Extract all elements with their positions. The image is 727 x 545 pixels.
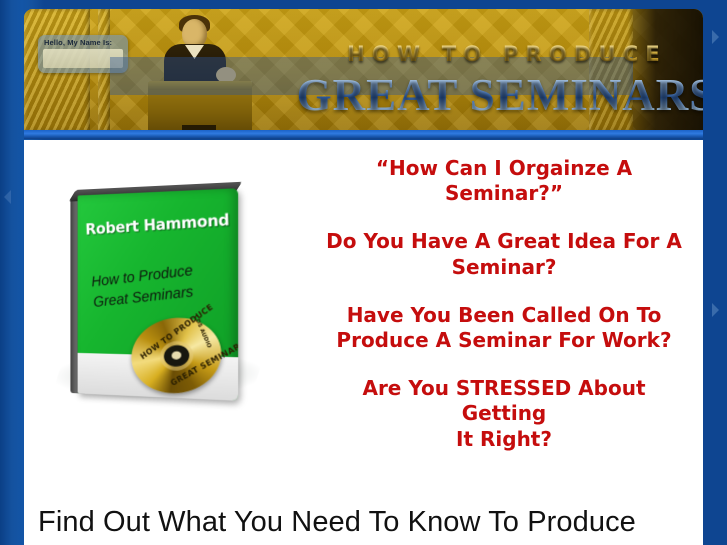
page-frame: Hello, My Name Is: HOW TO PRODUCE GREAT … (0, 0, 727, 545)
cd-hub (162, 343, 191, 369)
product-binder: Robert Hammond How to Produce Great Semi… (78, 188, 239, 401)
name-badge-label: Hello, My Name Is: (38, 35, 128, 49)
cd-label-side: CDS AUDIO (192, 314, 212, 349)
headline-question-1: “How Can I Orgainze A Seminar?” (324, 156, 684, 206)
banner-title-top: HOW TO PRODUCE (302, 42, 703, 66)
headline-stack: “How Can I Orgainze A Seminar?” Do You H… (324, 156, 684, 452)
binder-title: How to Produce Great Seminars (90, 256, 229, 314)
cd-label-top: HOW TO PRODUCE (139, 302, 215, 361)
binder-cover: Robert Hammond How to Produce Great Semi… (78, 188, 239, 401)
binder-author-name: Robert Hammond (78, 210, 239, 239)
headline-question-4: Are You STRESSED About Getting It Right? (324, 376, 684, 452)
banner-divider-rule (24, 130, 703, 139)
headline-question-2: Do You Have A Great Idea For A Seminar? (324, 229, 684, 279)
banner-title-main: GREAT SEMINARS (296, 69, 703, 121)
chevron-left-icon (4, 190, 11, 204)
chevron-right-icon (712, 30, 719, 44)
chevron-right-icon (712, 303, 719, 317)
product-image: Robert Hammond How to Produce Great Semi… (50, 182, 290, 427)
cd-label-bottom: GREAT SEMINARS (169, 339, 238, 388)
subheadline: Find Out What You Need To Know To Produc… (38, 506, 698, 539)
headline-question-3: Have You Been Called On To Produce A Sem… (324, 303, 684, 353)
site-banner: Hello, My Name Is: HOW TO PRODUCE GREAT … (24, 9, 703, 131)
binder-bottom-strip (78, 353, 239, 401)
cd-center-hole (171, 350, 182, 360)
